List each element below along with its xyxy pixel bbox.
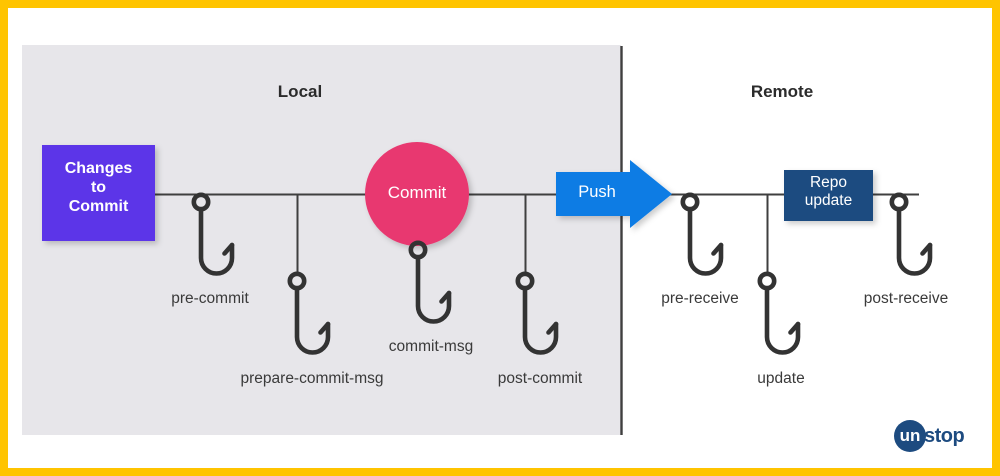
hook-label-update: update: [757, 370, 804, 388]
hook-label-post-receive: post-receive: [864, 290, 948, 308]
unstop-logo-mark-text: un: [894, 426, 926, 446]
remote-section-title: Remote: [732, 82, 832, 102]
hook-post-receive[interactable]: [892, 195, 930, 274]
hook-label-pre-receive: pre-receive: [661, 290, 739, 308]
changes-to-commit-box[interactable]: [42, 145, 155, 241]
hook-update[interactable]: [760, 274, 798, 353]
diagram-graphics: [0, 0, 1000, 476]
unstop-logo-word: stop: [924, 425, 964, 448]
hook-label-post-commit: post-commit: [498, 370, 582, 388]
repo-update-box[interactable]: [784, 170, 873, 221]
hook-pre-receive[interactable]: [683, 195, 721, 274]
hook-label-pre-commit: pre-commit: [171, 290, 249, 308]
hook-label-commit-msg: commit-msg: [389, 338, 473, 356]
diagram-root: Local Remote Changes to Commit Commit Pu…: [0, 0, 1000, 476]
hook-label-prepare-commit-msg: prepare-commit-msg: [241, 370, 384, 388]
local-section-title: Local: [250, 82, 350, 102]
commit-circle[interactable]: [365, 142, 469, 246]
